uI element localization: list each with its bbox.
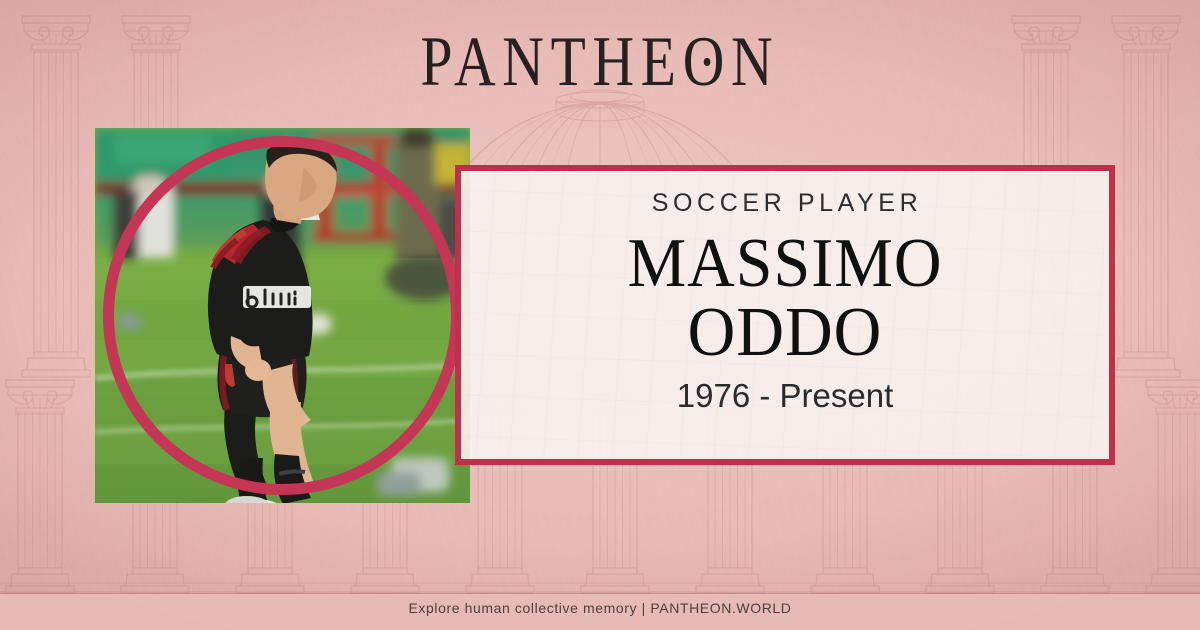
portrait-photo-graphic [95, 128, 470, 503]
wordmark-segment-2: N [731, 22, 779, 100]
person-name-line-2: ODDO [627, 299, 942, 368]
wordmark-dotted-o-icon: O [683, 26, 731, 97]
person-name-line-1: MASSIMO [627, 230, 942, 299]
pantheon-profile-poster: PANTHEON [0, 0, 1200, 630]
footer-divider [0, 593, 1200, 594]
lifespan-label: 1976 - Present [677, 379, 893, 412]
person-name: MASSIMO ODDO [627, 230, 942, 367]
portrait [95, 128, 470, 503]
pantheon-wordmark[interactable]: PANTHEON [0, 26, 1200, 86]
wordmark-o-center-dot [704, 57, 711, 65]
wordmark-segment-1: PANTHE [421, 22, 683, 100]
portrait-photo [95, 128, 470, 503]
footer-tagline[interactable]: Explore human collective memory | PANTHE… [0, 600, 1200, 616]
occupation-label: SOCCER PLAYER [648, 191, 923, 216]
profile-info-card: SOCCER PLAYER MASSIMO ODDO 1976 - Presen… [455, 165, 1115, 465]
pantheon-wordmark-text: PANTHEON [421, 26, 780, 97]
